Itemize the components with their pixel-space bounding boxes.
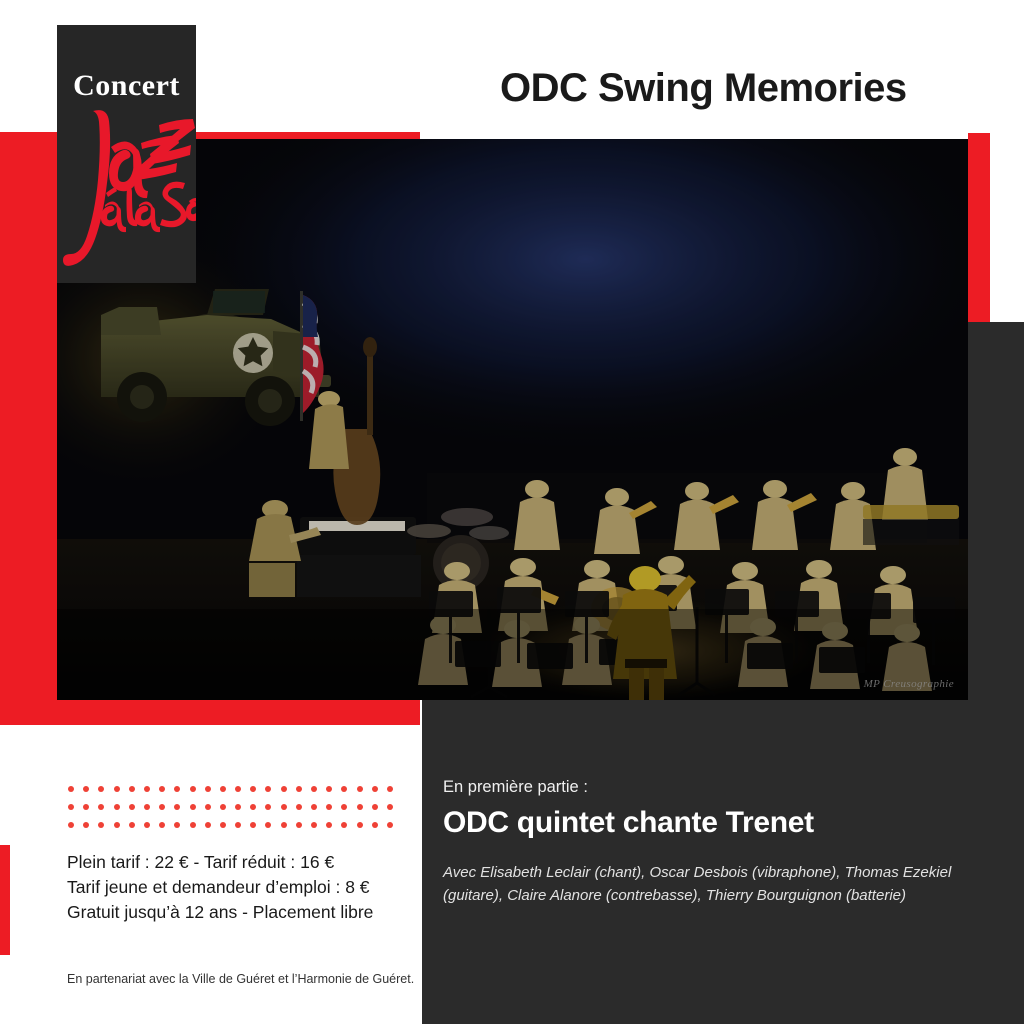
logo-concert-word: Concert [57,69,196,103]
festival-logo-panel: Concert [57,25,196,283]
partnership-note: En partenariat avec la Ville de Guéret e… [67,972,417,986]
dot-grid-decoration [68,780,393,834]
price-line-full: Plein tarif : 22 € - Tarif réduit : 16 € [67,850,417,875]
dot-row [68,780,393,798]
price-line-free: Gratuit jusqu’à 12 ans - Placement libre [67,900,417,925]
poster-root: MP Creusographie Concert [0,0,1024,1024]
photo-credit: MP Creusographie [864,678,954,690]
support-act-lineup: Avec Elisabeth Leclair (chant), Oscar De… [443,861,988,907]
support-act-title: ODC quintet chante Trenet [443,806,814,840]
dot-row [68,816,393,834]
price-line-youth: Tarif jeune et demandeur d’emploi : 8 € [67,875,417,900]
red-right-accent-strip [968,133,990,322]
logo-jazz-script [63,103,196,273]
jazz-script-mark [63,103,196,273]
pricing-block: Plein tarif : 22 € - Tarif réduit : 16 €… [67,850,417,925]
support-act-label: En première partie : [443,778,588,797]
red-edge-marker [0,845,10,955]
dot-row [68,798,393,816]
page-title: ODC Swing Memories [500,60,980,116]
